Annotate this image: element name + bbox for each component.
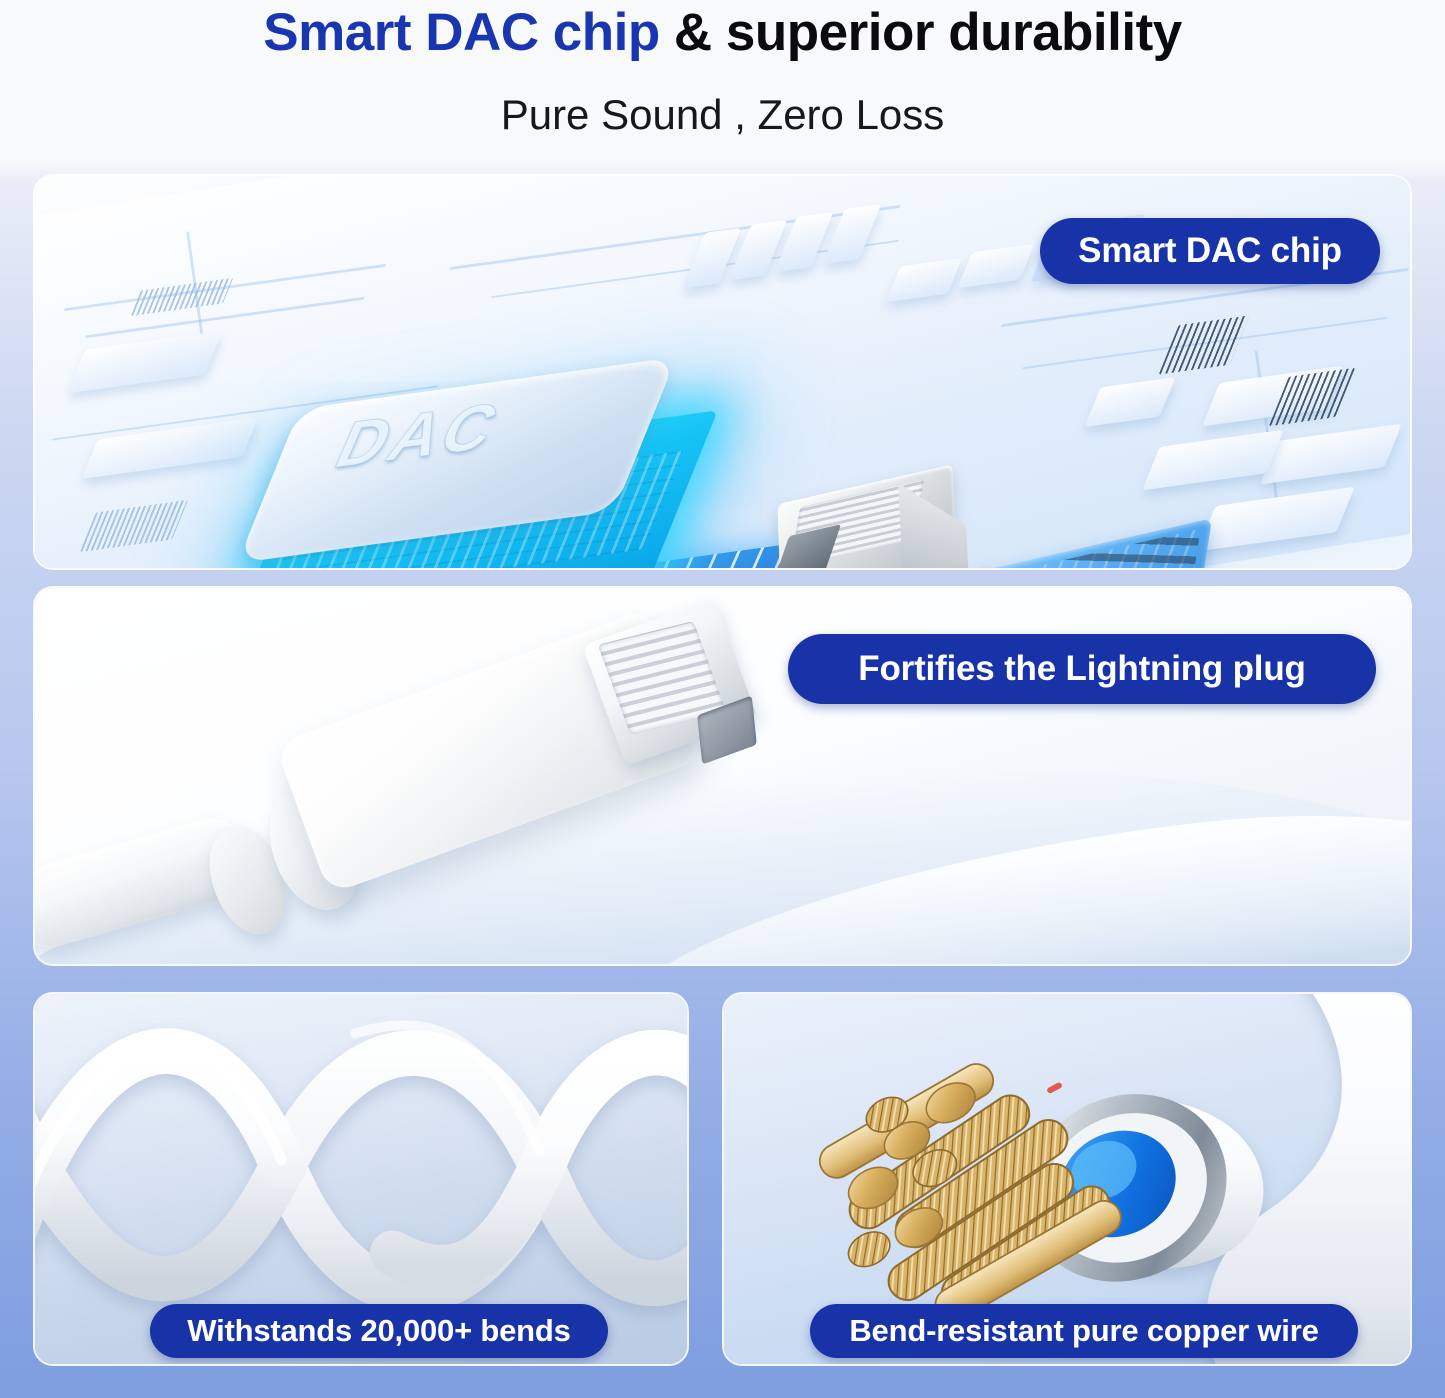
chip-glow-leg: [663, 558, 668, 570]
dac-chip-panel: DAC Smart DAC chip: [33, 174, 1412, 570]
title-highlight: Smart DAC chip: [263, 3, 659, 62]
badge-fortifies-lightning-plug: Fortifies the Lightning plug: [788, 634, 1376, 704]
header: Smart DAC chip & superior durability Pur…: [0, 0, 1445, 160]
badge-withstands-bends: Withstands 20,000+ bends: [150, 1304, 608, 1358]
page-subtitle: Pure Sound , Zero Loss: [0, 90, 1445, 140]
badge-bend-resistant-copper: Bend-resistant pure copper wire: [810, 1304, 1358, 1358]
badge-smart-dac-chip: Smart DAC chip: [1040, 218, 1380, 284]
cable-strand-a-overlap-two: [393, 1053, 687, 1268]
red-marker: [1046, 1082, 1063, 1095]
copper-strand-end-braided: [842, 1225, 896, 1273]
copper-strand-bundle: [814, 1037, 1127, 1342]
copper-wire-panel: Bend-resistant pure copper wire: [722, 992, 1412, 1366]
title-rest: & superior durability: [660, 3, 1182, 62]
page-title: Smart DAC chip & superior durability: [0, 2, 1445, 64]
lightning-plug-panel: Fortifies the Lightning plug: [33, 586, 1412, 966]
bend-test-panel: Withstands 20,000+ bends: [33, 992, 689, 1366]
